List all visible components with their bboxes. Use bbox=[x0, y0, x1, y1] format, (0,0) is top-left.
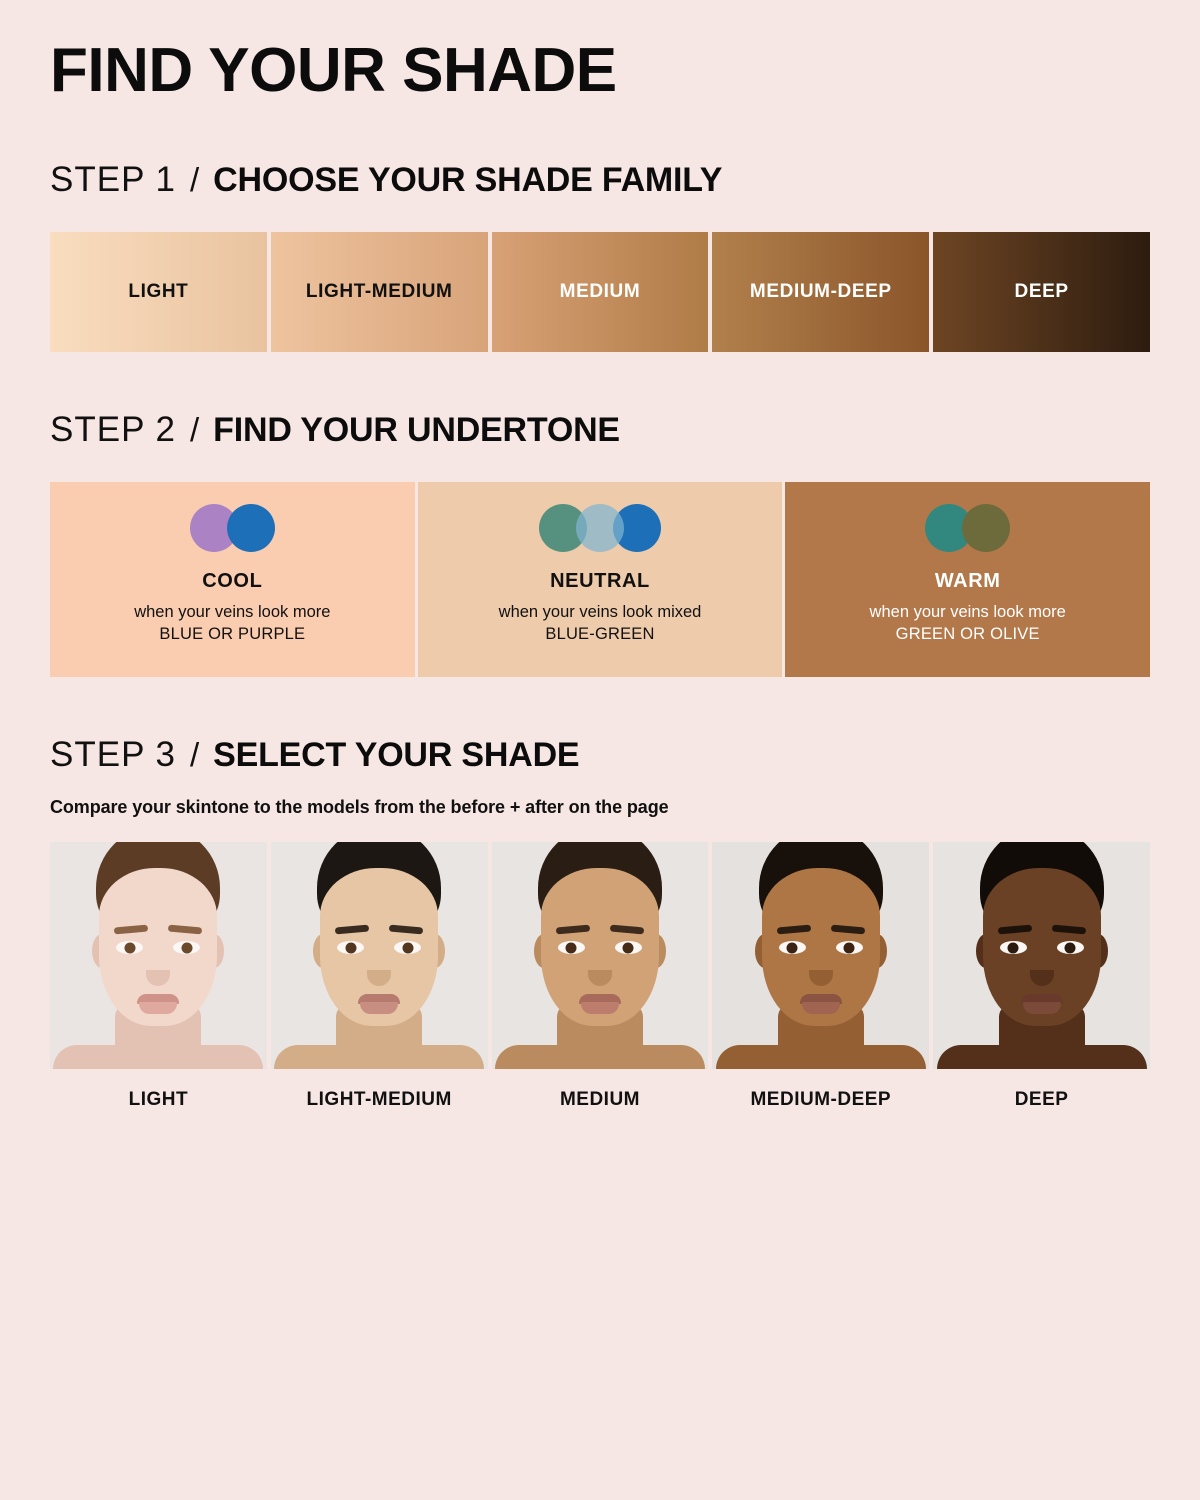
eye-left bbox=[558, 941, 585, 954]
undertone-desc-cool-2: BLUE OR PURPLE bbox=[159, 623, 305, 645]
shade-family-bar: LIGHT LIGHT-MEDIUM MEDIUM MEDIUM-DEEP DE… bbox=[50, 232, 1150, 352]
model-cell-medium: MEDIUM bbox=[492, 842, 709, 1111]
blue-green-vein-dot bbox=[576, 504, 624, 552]
undertone-desc-neutral-2: BLUE-GREEN bbox=[545, 623, 654, 645]
lower-lip bbox=[1023, 1002, 1061, 1014]
undertone-name-warm: WARM bbox=[935, 570, 1001, 593]
portrait-illustration bbox=[933, 842, 1150, 1069]
eye-right bbox=[615, 941, 642, 954]
eye-left bbox=[1000, 941, 1027, 954]
iris-left bbox=[566, 942, 577, 953]
undertone-card-neutral[interactable]: NEUTRAL when your veins look mixed BLUE-… bbox=[418, 482, 783, 677]
iris-right bbox=[1065, 942, 1076, 953]
iris-right bbox=[402, 942, 413, 953]
step-3-separator: / bbox=[190, 736, 199, 774]
lower-lip bbox=[802, 1002, 840, 1014]
portrait-illustration bbox=[492, 842, 709, 1069]
step-1-title: CHOOSE YOUR SHADE FAMILY bbox=[213, 161, 722, 200]
step-1-number: STEP 1 bbox=[50, 160, 176, 200]
lower-lip bbox=[360, 1002, 398, 1014]
iris-left bbox=[124, 942, 135, 953]
step-2-heading: STEP 2 / FIND YOUR UNDERTONE bbox=[50, 410, 1150, 450]
undertone-name-neutral: NEUTRAL bbox=[550, 570, 650, 593]
step-2-number: STEP 2 bbox=[50, 410, 176, 450]
iris-right bbox=[844, 942, 855, 953]
step-2-separator: / bbox=[190, 411, 199, 449]
undertone-card-cool[interactable]: COOL when your veins look more BLUE OR P… bbox=[50, 482, 415, 677]
shade-swatch-medium-deep[interactable]: MEDIUM-DEEP bbox=[712, 232, 929, 352]
step-1-heading: STEP 1 / CHOOSE YOUR SHADE FAMILY bbox=[50, 160, 1150, 200]
model-cell-deep: DEEP bbox=[933, 842, 1150, 1111]
find-your-shade-page: FIND YOUR SHADE STEP 1 / CHOOSE YOUR SHA… bbox=[0, 0, 1200, 1500]
model-label-light: LIGHT bbox=[50, 1089, 267, 1111]
iris-left bbox=[787, 942, 798, 953]
model-photo-medium-deep[interactable] bbox=[712, 842, 929, 1069]
model-photo-deep[interactable] bbox=[933, 842, 1150, 1069]
model-photo-medium[interactable] bbox=[492, 842, 709, 1069]
model-label-deep: DEEP bbox=[933, 1089, 1150, 1111]
portrait-illustration bbox=[712, 842, 929, 1069]
model-photo-light-medium[interactable] bbox=[271, 842, 488, 1069]
warm-vein-dots bbox=[925, 504, 1010, 552]
undertone-row: COOL when your veins look more BLUE OR P… bbox=[50, 482, 1150, 677]
model-cell-medium-deep: MEDIUM-DEEP bbox=[712, 842, 929, 1111]
iris-left bbox=[345, 942, 356, 953]
iris-left bbox=[1008, 942, 1019, 953]
model-label-medium-deep: MEDIUM-DEEP bbox=[712, 1089, 929, 1111]
undertone-desc-warm-2: GREEN OR OLIVE bbox=[896, 623, 1040, 645]
model-photo-light[interactable] bbox=[50, 842, 267, 1069]
model-label-light-medium: LIGHT-MEDIUM bbox=[271, 1089, 488, 1111]
undertone-desc-warm-1: when your veins look more bbox=[870, 601, 1066, 623]
step-1-separator: / bbox=[190, 161, 199, 199]
iris-right bbox=[623, 942, 634, 953]
olive-vein-dot bbox=[962, 504, 1010, 552]
undertone-desc-neutral-1: when your veins look mixed bbox=[499, 601, 702, 623]
portrait-illustration bbox=[271, 842, 488, 1069]
iris-right bbox=[181, 942, 192, 953]
neutral-vein-dots bbox=[539, 504, 661, 552]
eye-right bbox=[836, 941, 863, 954]
shade-swatch-medium[interactable]: MEDIUM bbox=[492, 232, 709, 352]
eye-right bbox=[394, 941, 421, 954]
model-cell-light-medium: LIGHT-MEDIUM bbox=[271, 842, 488, 1111]
page-title: FIND YOUR SHADE bbox=[50, 0, 1150, 102]
undertone-card-warm[interactable]: WARM when your veins look more GREEN OR … bbox=[785, 482, 1150, 677]
shade-swatch-light[interactable]: LIGHT bbox=[50, 232, 267, 352]
model-cell-light: LIGHT bbox=[50, 842, 267, 1111]
lower-lip bbox=[139, 1002, 177, 1014]
step-3-subtitle: Compare your skintone to the models from… bbox=[50, 797, 1150, 818]
model-label-medium: MEDIUM bbox=[492, 1089, 709, 1111]
lower-lip bbox=[581, 1002, 619, 1014]
step-2-title: FIND YOUR UNDERTONE bbox=[213, 411, 620, 450]
eye-left bbox=[779, 941, 806, 954]
cool-vein-dots bbox=[190, 504, 275, 552]
eye-right bbox=[1057, 941, 1084, 954]
eye-left bbox=[337, 941, 364, 954]
step-3-title: SELECT YOUR SHADE bbox=[213, 736, 579, 775]
shade-swatch-deep[interactable]: DEEP bbox=[933, 232, 1150, 352]
undertone-desc-cool-1: when your veins look more bbox=[134, 601, 330, 623]
step-3-number: STEP 3 bbox=[50, 735, 176, 775]
undertone-name-cool: COOL bbox=[202, 570, 262, 593]
step-3-heading: STEP 3 / SELECT YOUR SHADE bbox=[50, 735, 1150, 775]
model-photo-row: LIGHTLIGHT-MEDIUMMEDIUMMEDIUM-DEEPDEEP bbox=[50, 842, 1150, 1111]
shade-swatch-light-medium[interactable]: LIGHT-MEDIUM bbox=[271, 232, 488, 352]
blue-vein-dot bbox=[227, 504, 275, 552]
portrait-illustration bbox=[50, 842, 267, 1069]
